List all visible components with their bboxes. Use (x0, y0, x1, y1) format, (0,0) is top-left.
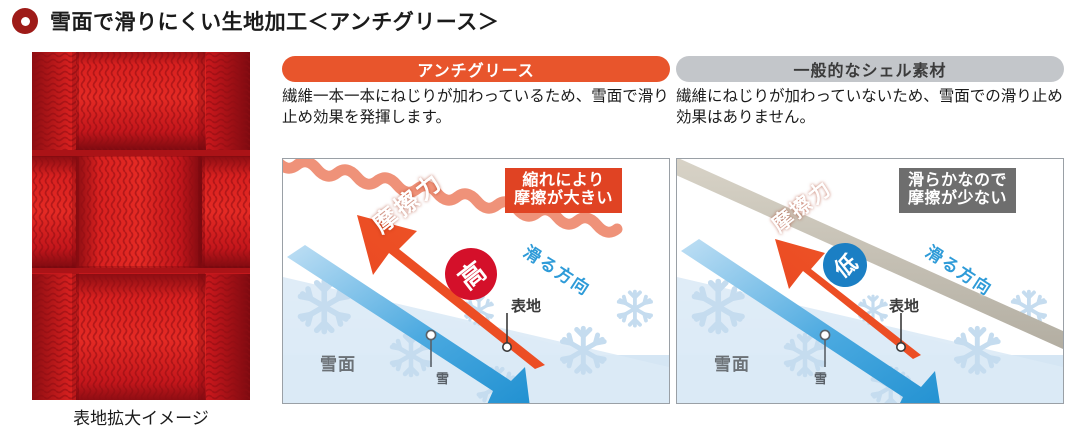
description-general-shell: 繊維にねじりが加わっていないため、雪面での滑り止め効果はありません。 (676, 87, 1064, 128)
column-general-shell: 一般的なシェル素材 繊維にねじりが加わっていないため、雪面での滑り止め効果はあり… (676, 56, 1064, 128)
fabric-macro-photo-image (32, 52, 250, 400)
pill-general-shell: 一般的なシェル素材 (676, 56, 1064, 82)
diagram-general-shell (676, 158, 1064, 404)
fabric-photo-caption: 表地拡大イメージ (32, 404, 250, 429)
diagram-anti-grease (282, 158, 670, 404)
page-root: 雪面で滑りにくい生地加工＜アンチグリース＞ (0, 0, 1080, 441)
fabric-macro-photo (32, 52, 250, 400)
page-title-row: 雪面で滑りにくい生地加工＜アンチグリース＞ (12, 6, 499, 36)
description-anti-grease: 繊維一本一本にねじりが加わっているため、雪面で滑り止め効果を発揮します。 (282, 87, 670, 128)
ring-icon (12, 8, 38, 34)
pill-anti-grease: アンチグリース (282, 56, 670, 82)
column-anti-grease: アンチグリース 繊維一本一本にねじりが加わっているため、雪面で滑り止め効果を発揮… (282, 56, 670, 128)
page-title: 雪面で滑りにくい生地加工＜アンチグリース＞ (50, 6, 499, 36)
